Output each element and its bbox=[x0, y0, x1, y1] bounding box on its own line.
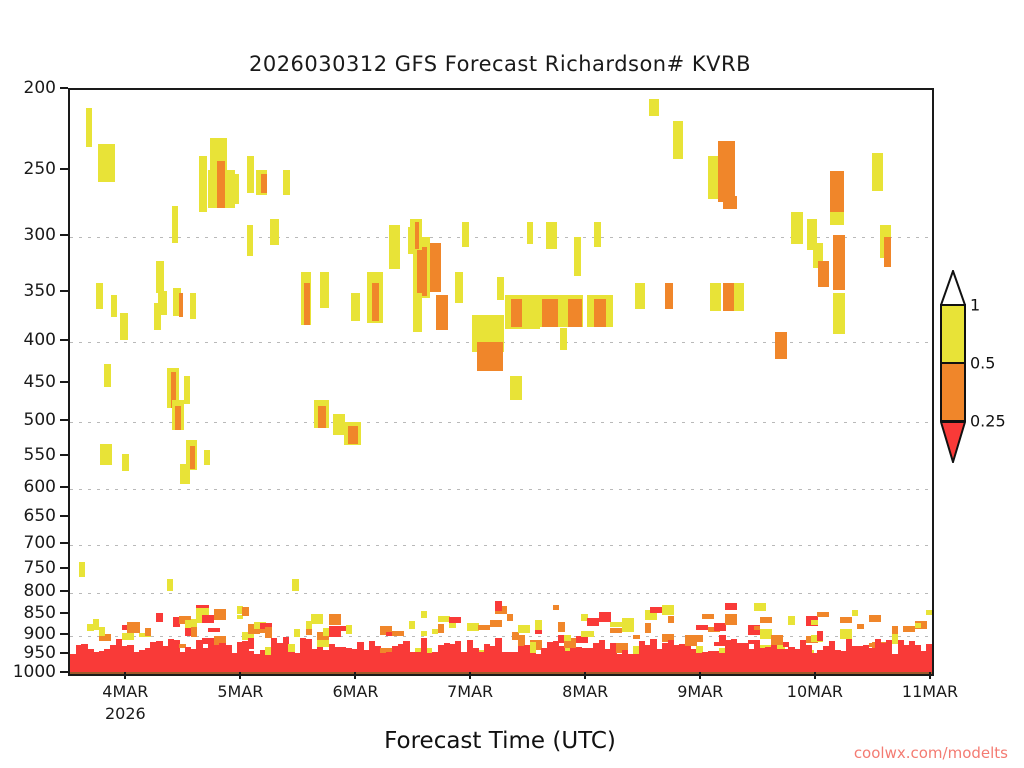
x-tick-mark bbox=[929, 672, 931, 679]
y-tick-label: 700 bbox=[24, 533, 56, 553]
y-tick-mark bbox=[60, 381, 68, 383]
heatmap-cell bbox=[791, 212, 803, 244]
x-tick-label: 10MAR bbox=[787, 682, 843, 701]
surface-cell bbox=[610, 628, 622, 634]
heatmap-cell bbox=[510, 376, 522, 400]
x-tick-label: 4MAR bbox=[102, 682, 148, 701]
y-tick-label: 450 bbox=[24, 372, 56, 392]
heatmap-cell bbox=[884, 237, 891, 267]
surface-cell bbox=[564, 635, 570, 641]
surface-cell bbox=[421, 611, 427, 618]
heatmap-cell bbox=[283, 170, 290, 195]
y-tick-label: 850 bbox=[24, 603, 56, 623]
y-tick-mark bbox=[60, 671, 68, 673]
heatmap-cell bbox=[430, 243, 440, 292]
x-tick-mark bbox=[354, 672, 356, 679]
heatmap-cell bbox=[665, 283, 674, 310]
heatmap-cell bbox=[775, 332, 787, 359]
surface-cell bbox=[622, 618, 634, 629]
y-tick-label: 600 bbox=[24, 477, 56, 497]
y-tick-label: 400 bbox=[24, 330, 56, 350]
surface-cell bbox=[329, 614, 341, 625]
x-tick-label: 7MAR bbox=[447, 682, 493, 701]
heatmap-cell bbox=[872, 153, 883, 191]
colorbar-tick-label: 1 bbox=[970, 296, 980, 315]
heatmap-cell bbox=[351, 293, 360, 321]
x-tick-label: 11MAR bbox=[902, 682, 958, 701]
heatmap-cell bbox=[172, 206, 178, 244]
x-tick-label: 5MAR bbox=[217, 682, 263, 701]
colorbar-arrow-bottom-outline bbox=[940, 421, 966, 463]
colorbar-separator bbox=[940, 304, 966, 306]
x-axis-year: 2026 bbox=[105, 704, 146, 723]
surface-cell bbox=[438, 624, 444, 633]
surface-cell bbox=[449, 617, 461, 623]
y-tick-mark bbox=[60, 567, 68, 569]
surface-cell bbox=[490, 620, 502, 627]
y-tick-label: 250 bbox=[24, 159, 56, 179]
x-tick-mark bbox=[699, 672, 701, 679]
surface-cell bbox=[760, 617, 772, 623]
chart-title: 2026030312 GFS Forecast Richardson# KVRB bbox=[0, 52, 1000, 76]
heatmap-cell bbox=[190, 446, 195, 470]
surface-cell bbox=[691, 635, 703, 642]
heatmap-cell bbox=[179, 293, 183, 317]
heatmap-cell bbox=[818, 261, 829, 287]
heatmap-cell bbox=[594, 299, 606, 326]
y-tick-mark bbox=[60, 486, 68, 488]
heatmap-cell bbox=[100, 444, 112, 465]
surface-cell bbox=[903, 626, 915, 632]
surface-cell bbox=[714, 623, 726, 631]
heatmap-cell bbox=[527, 222, 533, 244]
heatmap-cell bbox=[180, 464, 189, 484]
surface-cell bbox=[581, 631, 593, 638]
surface-cell bbox=[214, 609, 226, 620]
heatmap-cell bbox=[542, 299, 558, 326]
heatmap-cell bbox=[833, 235, 845, 246]
surface-cell bbox=[518, 625, 530, 633]
surface-cell bbox=[662, 605, 674, 615]
heatmap-cell bbox=[560, 328, 567, 350]
surface-cell bbox=[817, 631, 823, 642]
surface-cell bbox=[599, 612, 611, 622]
heatmap-cell bbox=[723, 283, 733, 312]
heatmap-cell bbox=[247, 225, 253, 256]
surface-cell bbox=[294, 629, 300, 637]
y-tick-mark bbox=[60, 339, 68, 341]
surface-cell bbox=[202, 615, 214, 623]
surface-cell bbox=[857, 624, 863, 629]
heatmap-cell bbox=[270, 219, 279, 246]
surface-cell bbox=[576, 636, 588, 643]
heatmap-cell bbox=[718, 141, 735, 159]
surface-cell bbox=[668, 616, 674, 623]
heatmap-cell bbox=[190, 293, 196, 319]
surface-cell bbox=[811, 620, 817, 625]
surface-cell bbox=[645, 623, 651, 632]
surface-cell bbox=[610, 622, 622, 627]
y-tick-mark bbox=[60, 234, 68, 236]
surface-cell bbox=[840, 617, 852, 623]
heatmap-cell bbox=[320, 272, 329, 309]
surface-cell bbox=[467, 623, 479, 629]
heatmap-cell bbox=[635, 283, 645, 310]
y-tick-mark bbox=[60, 290, 68, 292]
x-tick-label: 6MAR bbox=[332, 682, 378, 701]
y-tick-label: 800 bbox=[24, 581, 56, 601]
heatmap-cell bbox=[184, 376, 190, 404]
heatmap-cell bbox=[708, 156, 718, 199]
surface-cell bbox=[283, 637, 289, 645]
heatmap-cell bbox=[104, 364, 111, 387]
y-tick-label: 650 bbox=[24, 506, 56, 526]
gridline bbox=[70, 636, 932, 637]
surface-cell bbox=[869, 615, 881, 622]
surface-cell bbox=[771, 635, 783, 645]
gridline bbox=[70, 237, 932, 238]
heatmap-cell bbox=[673, 121, 682, 159]
heatmap-cell bbox=[830, 171, 844, 215]
heatmap-cell bbox=[830, 212, 844, 225]
heatmap-cell bbox=[546, 222, 557, 249]
surface-cell bbox=[127, 622, 139, 633]
surface-cell bbox=[421, 631, 427, 636]
y-tick-label: 500 bbox=[24, 410, 56, 430]
surface-cell bbox=[242, 607, 248, 616]
colorbar-tick-label: 0.25 bbox=[970, 412, 1006, 431]
colorbar-legend: 10.50.25 bbox=[940, 305, 966, 445]
heatmap-cell bbox=[833, 243, 845, 281]
heatmap-cell bbox=[833, 280, 845, 290]
gridline bbox=[70, 545, 932, 546]
heatmap-cell bbox=[86, 108, 92, 147]
surface-cell bbox=[788, 616, 794, 626]
heatmap-cell bbox=[511, 299, 521, 326]
surface-cell bbox=[587, 618, 599, 626]
y-tick-mark bbox=[60, 87, 68, 89]
heatmap-cell bbox=[217, 161, 226, 209]
surface-cell bbox=[122, 633, 134, 639]
watermark: coolwx.com/modelts bbox=[854, 744, 1008, 762]
heatmap-cell bbox=[120, 313, 128, 339]
surface-cell bbox=[535, 630, 541, 634]
y-tick-mark bbox=[60, 633, 68, 635]
surface-cell bbox=[530, 642, 536, 653]
y-tick-label: 950 bbox=[24, 643, 56, 663]
surface-cell bbox=[191, 627, 197, 637]
heatmap-cell bbox=[204, 450, 210, 464]
surface-cell bbox=[754, 603, 766, 611]
heatmap-cell bbox=[79, 562, 85, 577]
surface-cell bbox=[392, 631, 404, 636]
surface-cell bbox=[518, 635, 524, 646]
surface-cell bbox=[334, 626, 346, 631]
y-tick-mark bbox=[60, 168, 68, 170]
y-tick-mark bbox=[60, 515, 68, 517]
surface-cell bbox=[208, 628, 220, 633]
y-tick-label: 1000 bbox=[13, 662, 56, 682]
x-tick-mark bbox=[469, 672, 471, 679]
y-tick-label: 750 bbox=[24, 558, 56, 578]
heatmap-cell bbox=[167, 579, 174, 591]
surface-cell bbox=[478, 625, 490, 630]
surface-cell bbox=[311, 614, 323, 624]
surface-cell bbox=[558, 622, 564, 632]
heatmap-cell bbox=[230, 174, 239, 204]
surface-cell bbox=[265, 627, 271, 637]
y-tick-label: 300 bbox=[24, 225, 56, 245]
y-tick-label: 550 bbox=[24, 445, 56, 465]
surface-cell bbox=[438, 616, 450, 622]
y-tick-label: 200 bbox=[24, 78, 56, 98]
surface-cell bbox=[317, 639, 329, 647]
heatmap-cell bbox=[389, 225, 400, 270]
y-axis: 2002503003504004505005506006507007508008… bbox=[0, 88, 68, 676]
x-tick-mark bbox=[239, 672, 241, 679]
heatmap-cell bbox=[96, 283, 103, 310]
heatmap-cell bbox=[154, 303, 161, 330]
y-tick-mark bbox=[60, 419, 68, 421]
heatmap-cell bbox=[477, 342, 503, 372]
heatmap-cell bbox=[462, 222, 469, 246]
heatmap-cell bbox=[439, 298, 446, 329]
y-tick-label: 350 bbox=[24, 281, 56, 301]
y-tick-mark bbox=[60, 652, 68, 654]
surface-cell bbox=[507, 614, 513, 621]
surface-cell bbox=[409, 621, 415, 629]
heatmap-cell bbox=[723, 196, 737, 209]
heatmap-cell bbox=[415, 222, 419, 249]
heatmap-cell bbox=[156, 261, 164, 294]
heatmap-cell bbox=[833, 293, 845, 334]
x-tick-mark bbox=[124, 672, 126, 679]
surface-cell bbox=[840, 629, 852, 639]
colorbar-separator bbox=[940, 362, 966, 364]
surface-cell bbox=[288, 644, 294, 652]
heatmap-cell bbox=[292, 579, 299, 591]
plot-clip bbox=[70, 90, 932, 674]
surface-cell bbox=[191, 619, 203, 624]
heatmap-cell bbox=[718, 153, 735, 201]
heatmap-cell bbox=[413, 293, 422, 332]
gridline bbox=[70, 422, 932, 423]
surface-cell bbox=[553, 605, 559, 610]
surface-cell bbox=[633, 635, 639, 640]
gridline bbox=[70, 489, 932, 490]
surface-cell bbox=[926, 610, 932, 615]
heatmap-cell bbox=[199, 156, 207, 212]
surface-cell bbox=[915, 623, 921, 628]
surface-cell bbox=[817, 612, 829, 617]
heatmap-cell bbox=[594, 222, 601, 246]
y-tick-mark bbox=[60, 590, 68, 592]
surface-cell bbox=[99, 627, 105, 635]
surface-cell bbox=[696, 625, 708, 630]
surface-cell bbox=[702, 614, 714, 619]
y-tick-mark bbox=[60, 542, 68, 544]
colorbar-arrow-top-outline bbox=[940, 270, 966, 306]
surface-cell bbox=[852, 610, 858, 616]
surface-cell bbox=[714, 642, 726, 646]
heatmap-cell bbox=[574, 237, 581, 276]
heatmap-cell bbox=[98, 144, 114, 183]
colorbar-band-orange bbox=[940, 363, 966, 421]
heatmap-cell bbox=[348, 426, 358, 444]
surface-cell bbox=[346, 625, 352, 634]
terrain-band bbox=[70, 672, 932, 674]
heatmap-cell bbox=[734, 283, 744, 312]
heatmap-cell bbox=[304, 283, 309, 325]
heatmap-cell bbox=[568, 299, 582, 326]
heatmap-cell bbox=[417, 247, 427, 296]
y-tick-mark bbox=[60, 454, 68, 456]
heatmap-cell bbox=[318, 406, 326, 428]
y-tick-mark bbox=[60, 612, 68, 614]
heatmap-cell bbox=[649, 99, 658, 116]
x-tick-mark bbox=[584, 672, 586, 679]
colorbar-band-yellow bbox=[940, 305, 966, 363]
surface-cell bbox=[725, 603, 737, 610]
surface-cell bbox=[650, 607, 662, 613]
surface-cell bbox=[248, 638, 254, 649]
heatmap-cell bbox=[175, 406, 181, 430]
colorbar-tick-label: 0.5 bbox=[970, 354, 995, 373]
x-tick-label: 9MAR bbox=[677, 682, 723, 701]
heatmap-cell bbox=[455, 272, 463, 304]
heatmap-cell bbox=[122, 454, 130, 471]
x-tick-mark bbox=[814, 672, 816, 679]
gridline bbox=[70, 593, 932, 594]
heatmap-cell bbox=[372, 283, 379, 321]
surface-cell bbox=[725, 614, 737, 625]
plot-area bbox=[68, 88, 934, 676]
heatmap-cell bbox=[111, 295, 118, 317]
chart-root: 2026030312 GFS Forecast Richardson# KVRB… bbox=[0, 0, 1024, 768]
heatmap-cell bbox=[497, 277, 504, 300]
heatmap-cell bbox=[247, 156, 254, 193]
surface-cell bbox=[926, 644, 932, 660]
surface-cell bbox=[760, 629, 772, 639]
surface-cell bbox=[156, 613, 162, 622]
surface-cell bbox=[495, 601, 501, 611]
heatmap-cell bbox=[710, 283, 721, 312]
heatmap-cell bbox=[261, 174, 266, 194]
y-tick-label: 900 bbox=[24, 624, 56, 644]
surface-cell bbox=[145, 628, 151, 636]
x-tick-label: 8MAR bbox=[562, 682, 608, 701]
x-axis-label: Forecast Time (UTC) bbox=[0, 728, 1000, 754]
